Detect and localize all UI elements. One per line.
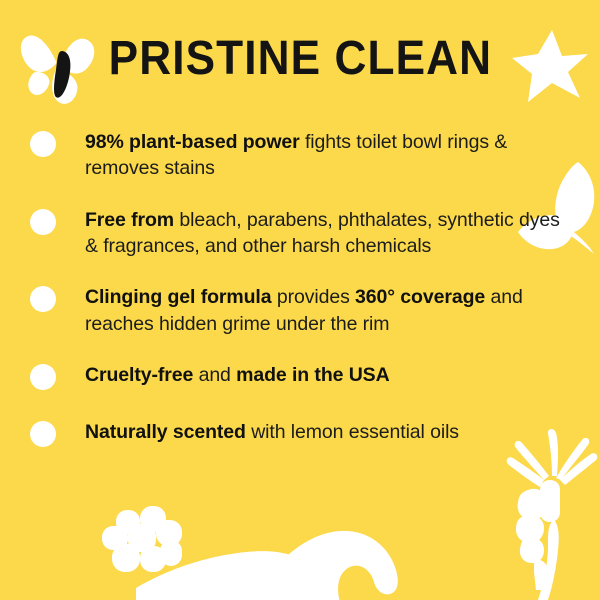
- feature-list-item: Free from bleach, parabens, phthalates, …: [30, 206, 570, 260]
- feature-text-emphasis: Free from: [85, 209, 174, 231]
- feature-text-emphasis: made in the USA: [236, 364, 389, 386]
- wave-icon: [256, 520, 456, 600]
- circle-bullet-icon: [30, 131, 56, 157]
- circle-bullet-icon: [30, 286, 56, 312]
- feature-text-emphasis: 98% plant-based power: [85, 131, 300, 153]
- feature-text-emphasis: Clinging gel formula: [85, 286, 272, 308]
- feature-list: 98% plant-based power fights toilet bowl…: [30, 128, 570, 447]
- feature-list-item: Cruelty-free and made in the USA: [30, 361, 570, 390]
- feature-text-emphasis: Cruelty-free: [85, 364, 193, 386]
- feature-text-emphasis: Naturally scented: [85, 421, 246, 443]
- feature-list-item: Naturally scented with lemon essential o…: [30, 418, 570, 447]
- circle-bullet-icon: [30, 209, 56, 235]
- circle-bullet-icon: [30, 421, 56, 447]
- dandelion-icon: [494, 424, 600, 600]
- circle-bullet-icon: [30, 364, 56, 390]
- feature-list-item-text: Cruelty-free and made in the USA: [85, 361, 570, 388]
- feature-list-item-text: Clinging gel formula provides 360° cover…: [85, 283, 570, 337]
- feature-text-emphasis: 360° coverage: [355, 286, 485, 308]
- feature-list-item: 98% plant-based power fights toilet bowl…: [30, 128, 570, 182]
- feature-text-plain: with lemon essential oils: [246, 421, 459, 443]
- feature-text-plain: provides: [272, 286, 356, 308]
- feature-list-item-text: Naturally scented with lemon essential o…: [85, 418, 570, 445]
- swoosh-icon: [136, 548, 306, 600]
- feature-list-item-text: 98% plant-based power fights toilet bowl…: [85, 128, 570, 182]
- feature-list-item: Clinging gel formula provides 360° cover…: [30, 283, 570, 337]
- header: PRISTINE CLEAN: [0, 0, 600, 118]
- page-title: PRISTINE CLEAN: [108, 35, 491, 83]
- flower-icon: [102, 506, 194, 578]
- feature-text-plain: and: [193, 364, 236, 386]
- feature-list-item-text: Free from bleach, parabens, phthalates, …: [85, 206, 570, 260]
- poster-canvas: PRISTINE CLEAN 98% plant-based power fig…: [0, 0, 600, 600]
